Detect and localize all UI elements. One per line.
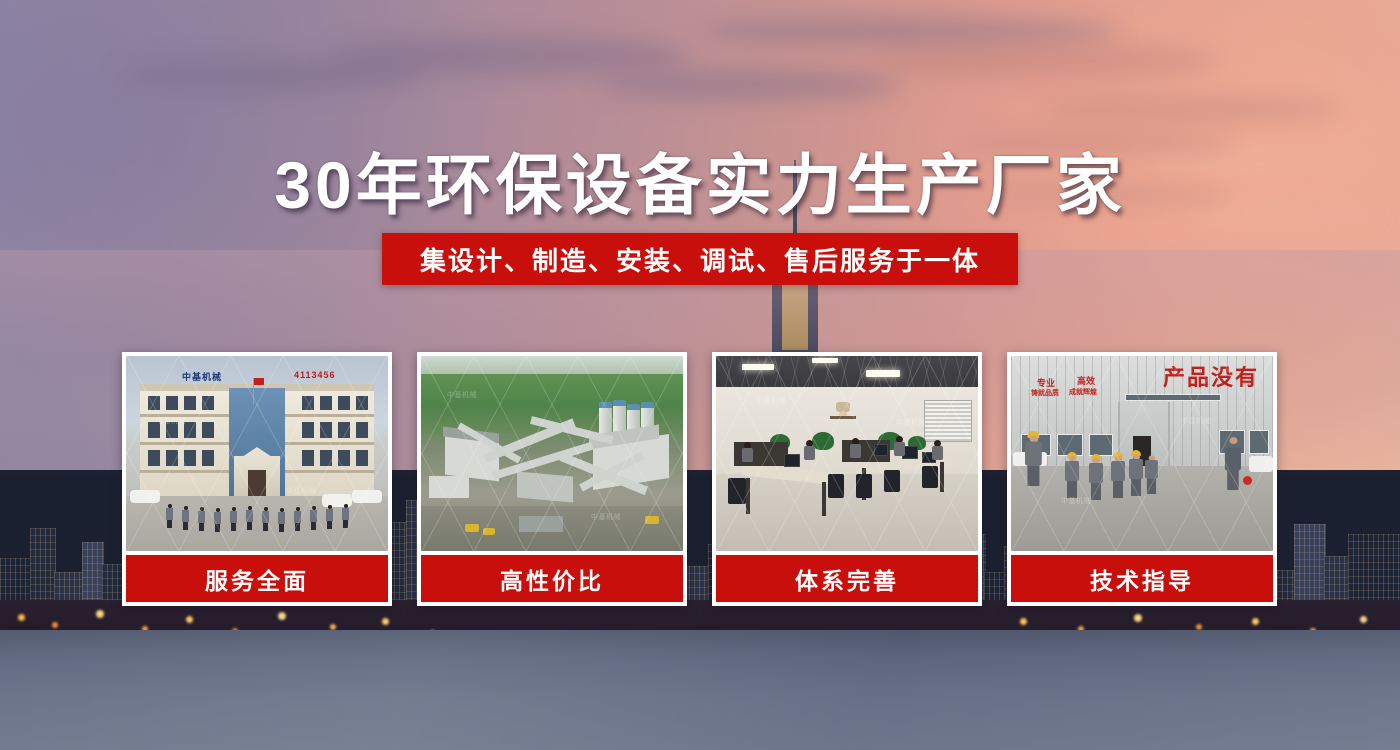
building-phone-number: 4113456 <box>294 370 336 380</box>
wall-decoration <box>826 400 860 426</box>
factory-wall-slogan-3: 高效 <box>1077 374 1095 387</box>
water-reflection <box>0 630 1400 750</box>
factory-wall-slogan-5: 成就辉煌 <box>1069 387 1097 397</box>
card-caption-text: 体系完善 <box>795 562 899 596</box>
tower-crown <box>782 276 808 350</box>
page-title: 30年环保设备实力生产厂家 <box>0 132 1400 228</box>
factory-wall-slogan-4: 铸就品质 <box>1031 388 1059 398</box>
feature-card-service[interactable]: 中基机械 4113456 <box>122 352 392 606</box>
card-photo-office-interior: 中基机械 中基机械 <box>716 356 978 551</box>
feature-card-system[interactable]: 中基机械 中基机械 体系完善 <box>712 352 982 606</box>
feature-card-row: 中基机械 4113456 <box>0 352 1400 608</box>
promo-banner: 30年环保设备实力生产厂家 集设计、制造、安装、调试、售后服务于一体 <box>0 0 1400 750</box>
card-caption-text: 高性价比 <box>500 562 604 596</box>
feature-card-value[interactable]: 中基机械 中基机械 高性价比 <box>417 352 687 606</box>
card-photo-factory-yard: 产品没有 专业 高效 铸就品质 成就辉煌 <box>1011 356 1273 551</box>
card-photo-office-building: 中基机械 4113456 <box>126 356 388 551</box>
card-caption-bar: 高性价比 <box>421 555 683 602</box>
feature-card-training[interactable]: 产品没有 专业 高效 铸就品质 成就辉煌 <box>1007 352 1277 606</box>
factory-wall-slogan: 产品没有 <box>1163 360 1259 392</box>
red-helmet-icon <box>1243 476 1252 485</box>
building-company-sign: 中基机械 <box>182 370 222 383</box>
subtitle-bar: 集设计、制造、安装、调试、售后服务于一体 <box>382 233 1018 285</box>
card-caption-bar: 体系完善 <box>716 555 978 602</box>
card-caption-text: 服务全面 <box>205 562 309 596</box>
card-caption-bar: 技术指导 <box>1011 555 1273 602</box>
card-caption-text: 技术指导 <box>1090 562 1194 596</box>
subtitle-text: 集设计、制造、安装、调试、售后服务于一体 <box>420 241 980 278</box>
card-caption-bar: 服务全面 <box>126 555 388 602</box>
card-photo-aerial-plant: 中基机械 中基机械 <box>421 356 683 551</box>
